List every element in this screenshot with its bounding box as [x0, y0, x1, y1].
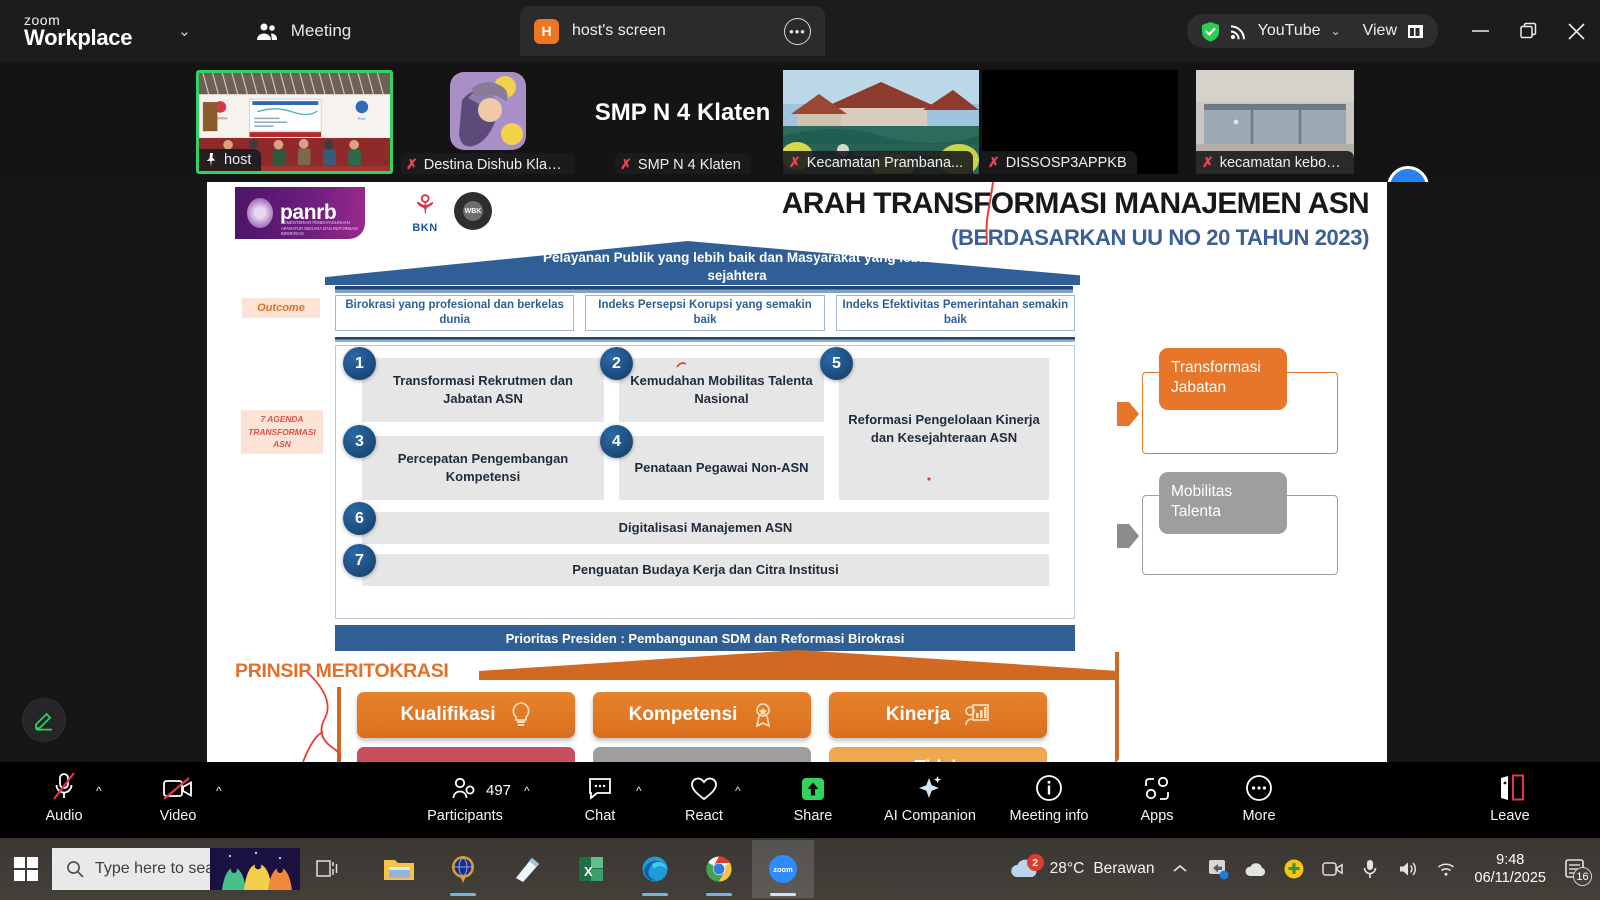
meritokrasi-chip-row: Kualifikasi Kompetensi Kinerja [357, 692, 1047, 738]
garuda-emblem-icon [247, 198, 273, 228]
participant-name-bar: host [199, 149, 261, 171]
task-view-icon [316, 859, 338, 879]
slide-title-main: ARAH TRANSFORMASI MANAJEMEN ASN [782, 187, 1369, 221]
weather-temp: 28°C [1050, 860, 1085, 878]
agenda-item-5: Reformasi Pengelolaan Kinerja dan Keseja… [839, 358, 1049, 500]
toolbar-ai-companion-button[interactable]: AI Companion [868, 770, 992, 832]
title-bar-right: YouTube ⌄ View [1187, 0, 1600, 62]
agenda-number-1: 1 [343, 347, 376, 380]
participant-name-bar: ✗ kecamatan kebonarum [1196, 151, 1354, 174]
toolbar-more-label: More [1242, 808, 1275, 824]
clock[interactable]: 9:48 06/11/2025 [1475, 851, 1547, 887]
merit-chip-label: Kompetensi [629, 704, 738, 726]
mic-off-icon: ✗ [1202, 154, 1214, 171]
wbk-seal-icon: WBK [454, 192, 492, 230]
people-icon [255, 22, 279, 41]
pin-icon [205, 153, 218, 167]
toolbar-participants-button[interactable]: Participants [436, 770, 494, 832]
meritokrasi-right-pillar [1115, 652, 1119, 762]
app-running-indicator [770, 893, 796, 896]
outcome-box: Indeks Persepsi Korupsi yang semakin bai… [585, 295, 824, 331]
participant-thumbnail-smpn4[interactable]: SMP N 4 Klaten ✗ SMP N 4 Klaten [585, 70, 780, 174]
outcome-box: Indeks Efektivitas Pemerintahan semakin … [836, 295, 1075, 331]
shared-screen-tab[interactable]: H host's screen ••• [520, 6, 825, 56]
participant-thumbnail-dissos[interactable]: ✗ DISSOSP3APPKB [982, 70, 1178, 174]
merit-chip-kompetensi: Kompetensi [593, 692, 811, 738]
medal-icon [751, 702, 775, 728]
outcome-box: Birokrasi yang profesional dan berkelas … [335, 295, 574, 331]
taskbar-app-notepad[interactable] [496, 840, 558, 898]
toolbar-chat-label: Chat [585, 808, 616, 824]
bkn-figure-icon: ⚘ [399, 188, 451, 222]
chat-icon [587, 770, 613, 802]
info-icon [1035, 770, 1063, 802]
agenda-item-4: Penataan Pegawai Non-ASN [619, 436, 824, 500]
taskbar-app-file-explorer[interactable] [368, 840, 430, 898]
share-screen-icon [800, 770, 826, 802]
separator-bar [335, 337, 1075, 342]
meritokrasi-chip-row-2: Tidak [357, 747, 1047, 762]
agenda-number-2: 2 [600, 347, 633, 380]
participant-thumbnail-kebonarum[interactable]: ✗ kecamatan kebonarum [1196, 70, 1354, 174]
toolbar-more-button[interactable]: More [1225, 770, 1293, 832]
zoom-meeting-toolbar: Audio ^ Video ^ Participants 497 ^ [0, 762, 1600, 838]
slide-title-sub: (BERDASARKAN UU NO 20 TAHUN 2023) [782, 225, 1369, 251]
merit-chip2-c: Tidak [829, 747, 1047, 762]
video-off-icon [162, 770, 194, 802]
bkn-logo: ⚘ BKN [399, 188, 451, 234]
pencil-icon [33, 709, 55, 731]
agenda-number-6: 6 [343, 502, 376, 535]
chrome-icon [704, 854, 734, 884]
zoom-title-bar: zoom Workplace ⌄ Meeting H host's screen… [0, 0, 1600, 62]
workplace-dropdown-icon[interactable]: ⌄ [178, 22, 191, 40]
merit-chip-kinerja: Kinerja [829, 692, 1047, 738]
meritokrasi-title: PRINSIP MERITOKRASI [235, 660, 449, 683]
taskbar-app-chrome[interactable] [688, 840, 750, 898]
toolbar-apps-label: Apps [1140, 808, 1173, 824]
taskbar-app-list: X zoom [368, 840, 814, 898]
panrb-logo: panrb KEMENTERIAN PENDAYAGUNAAN APARATUR… [235, 187, 365, 239]
mic-off-icon: ✗ [406, 156, 418, 173]
notification-center-button[interactable]: 16 [1558, 852, 1592, 886]
volume-icon[interactable] [1395, 856, 1421, 882]
toolbar-react-label: React [685, 808, 723, 824]
tray-expand-chevron[interactable] [1167, 856, 1193, 882]
app-running-indicator [642, 893, 668, 896]
participant-name: Kecamatan Prambana... [807, 155, 963, 171]
participant-filmstrip: ADINKRA Dinas host [0, 62, 1600, 182]
toolbar-share-button[interactable]: Share [784, 770, 842, 832]
shield-check-icon [1201, 21, 1220, 42]
roof-base-bar [335, 286, 1073, 293]
toolbar-ai-companion-label: AI Companion [884, 808, 976, 824]
svg-text:zoom: zoom [773, 865, 793, 874]
presentation-slide[interactable]: panrb KEMENTERIAN PENDAYAGUNAAN APARATUR… [207, 182, 1387, 762]
notepad-icon [512, 854, 542, 884]
merit-chip2-a [357, 747, 575, 762]
app-running-indicator [450, 893, 476, 896]
taskbar-app-zoom[interactable]: zoom [752, 840, 814, 898]
agenda-item-7: Penguatan Budaya Kerja dan Citra Institu… [362, 554, 1049, 586]
agenda-number-3: 3 [343, 425, 376, 458]
mic-icon[interactable] [1357, 856, 1383, 882]
excel-icon: X [576, 854, 606, 884]
screen-share-icon[interactable] [1205, 856, 1231, 882]
task-view-button[interactable] [300, 859, 354, 879]
bkn-logo-text: BKN [399, 222, 451, 234]
meeting-tab-label: Meeting [291, 21, 351, 41]
video-options-chevron[interactable]: ^ [216, 784, 222, 798]
close-button[interactable] [1552, 0, 1600, 62]
toolbar-share-label: Share [794, 808, 833, 824]
zoom-icon: zoom [767, 853, 799, 885]
participants-options-chevron[interactable]: ^ [524, 784, 530, 798]
taskbar-app-browser-legacy[interactable] [432, 840, 494, 898]
roof-text: Pelayanan Publik yang lebih baik dan Mas… [527, 249, 947, 285]
president-priority-bar: Prioritas Presiden : Pembangunan SDM dan… [335, 625, 1075, 651]
onedrive-icon[interactable] [1243, 856, 1269, 882]
heart-icon [690, 770, 718, 802]
slide-title: ARAH TRANSFORMASI MANAJEMEN ASN (BERDASA… [782, 187, 1369, 251]
shared-screen-title: host's screen [572, 22, 771, 40]
more-options-icon[interactable]: ••• [784, 18, 811, 45]
svg-text:Dinas: Dinas [358, 117, 366, 121]
participant-name: DISSOSP3APPKB [1006, 155, 1127, 171]
security-icon[interactable] [1281, 856, 1307, 882]
more-icon [1245, 770, 1273, 802]
agenda-tag-line3: ASN [273, 438, 291, 451]
react-options-chevron[interactable]: ^ [735, 784, 741, 798]
participant-name-bar: ✗ Kecamatan Prambana... [783, 151, 973, 174]
meeting-tab[interactable]: Meeting [255, 21, 351, 41]
agenda-tag: 7 AGENDA TRANSFORMASI ASN [241, 410, 323, 454]
mic-off-icon [52, 770, 76, 802]
toolbar-apps-button[interactable]: Apps [1124, 770, 1190, 832]
clock-time: 9:48 [1475, 851, 1547, 869]
folder-icon [382, 854, 416, 884]
shared-screen-stage: panrb KEMENTERIAN PENDAYAGUNAAN APARATUR… [0, 182, 1600, 762]
participant-thumbnail-destina[interactable]: ✗ Destina Dishub Klaten [400, 70, 575, 174]
apps-icon [1143, 770, 1171, 802]
agenda-frame: Transformasi Rekrutmen dan Jabatan ASN 1… [335, 345, 1075, 619]
minimize-button[interactable] [1456, 0, 1504, 62]
meritokrasi-roof [479, 650, 1119, 680]
side-chip-mobilitas-talenta: Mobilitas Talenta [1159, 472, 1287, 534]
globe-icon [447, 854, 479, 884]
host-avatar-badge: H [534, 19, 559, 44]
outcome-tag: Outcome [242, 298, 320, 318]
broadcast-icon [1230, 23, 1248, 40]
layout-grid-icon[interactable] [1407, 23, 1424, 40]
participant-name: SMP N 4 Klaten [638, 157, 741, 173]
participant-thumbnail-host[interactable]: ADINKRA Dinas host [196, 70, 393, 174]
windows-taskbar: Type here to search [0, 838, 1600, 900]
toolbar-leave-button[interactable]: Leave [1479, 770, 1541, 832]
toolbar-react-button[interactable]: React [675, 770, 733, 832]
zoom-logo-bottom: Workplace [24, 27, 132, 49]
panrb-logo-subtext: KEMENTERIAN PENDAYAGUNAAN APARATUR NEGAR… [281, 220, 359, 237]
toolbar-chat-button[interactable]: Chat [572, 770, 628, 832]
participant-name: host [224, 152, 251, 168]
agenda-item-1: Transformasi Rekrutmen dan Jabatan ASN [362, 358, 604, 422]
toolbar-meeting-info-button[interactable]: Meeting info [993, 770, 1105, 832]
merit-chip2-b [593, 747, 811, 762]
annotate-button[interactable] [22, 698, 66, 742]
chart-icon [964, 702, 990, 728]
toolbar-video-label: Video [160, 808, 197, 824]
merit-chip-kualifikasi: Kualifikasi [357, 692, 575, 738]
weather-condition: Berawan [1093, 860, 1154, 878]
audio-options-chevron[interactable]: ^ [96, 784, 102, 798]
mic-off-icon: ✗ [789, 154, 801, 171]
participant-name-bar: ✗ DISSOSP3APPKB [982, 151, 1137, 174]
search-input[interactable]: Type here to search [52, 848, 300, 890]
weather-badge: 2 [1027, 854, 1044, 871]
merit-chip-label: Kinerja [886, 704, 950, 726]
agenda-item-3: Percepatan Pengembangan Kompetensi [362, 436, 604, 500]
weather-widget[interactable]: 2 28°C Berawan [1009, 856, 1155, 882]
clock-date: 06/11/2025 [1475, 869, 1547, 887]
lightbulb-icon [510, 702, 532, 728]
participant-thumbnail-prambanan[interactable]: PEMERINTAH KABUPATEN KLATEN KANTOR CAMAT… [783, 70, 979, 174]
wifi-icon[interactable] [1433, 856, 1459, 882]
toolbar-audio-button[interactable]: Audio [36, 770, 92, 832]
arrow-marker-orange [1117, 400, 1141, 428]
zoom-logo: zoom Workplace [24, 13, 132, 50]
stream-dropdown-icon[interactable]: ⌄ [1331, 24, 1341, 38]
merit-chip-label: Kualifikasi [400, 704, 495, 726]
agenda-number-4: 4 [600, 425, 633, 458]
stream-status-pill[interactable]: YouTube ⌄ View [1187, 14, 1438, 48]
toolbar-video-button[interactable]: Video [150, 770, 206, 832]
leave-icon [1495, 770, 1525, 802]
search-icon [66, 860, 84, 878]
participants-icon [451, 770, 479, 802]
participant-name: kecamatan kebonarum [1220, 155, 1344, 171]
stream-service-label: YouTube [1258, 22, 1321, 40]
app-running-indicator [706, 893, 732, 896]
system-tray: 2 28°C Berawan [1009, 838, 1600, 900]
windows-start-icon [14, 857, 38, 881]
start-button[interactable] [0, 857, 52, 881]
participant-name-bar: ✗ Destina Dishub Klaten [400, 153, 575, 174]
taskbar-app-excel[interactable]: X [560, 840, 622, 898]
notification-count: 16 [1573, 867, 1592, 886]
agenda-item-6: Digitalisasi Manajemen ASN [362, 512, 1049, 544]
side-chip-transformasi-jabatan: Transformasi Jabatan [1159, 348, 1287, 410]
search-illustration-icon [210, 848, 300, 890]
sparkle-icon [916, 770, 944, 802]
camera-icon[interactable] [1319, 856, 1345, 882]
edge-icon [640, 854, 670, 884]
agenda-number-7: 7 [343, 544, 376, 577]
taskbar-app-edge[interactable] [624, 840, 686, 898]
maximize-button[interactable] [1504, 0, 1552, 62]
toolbar-meeting-info-label: Meeting info [1010, 808, 1089, 824]
agenda-tag-line1: 7 AGENDA [261, 413, 304, 426]
participant-name: Destina Dishub Klaten [424, 157, 565, 173]
mic-off-icon: ✗ [988, 154, 1000, 171]
participant-name-bar: ✗ SMP N 4 Klaten [614, 153, 751, 174]
agenda-number-5: 5 [820, 347, 853, 380]
agenda-item-2: Kemudahan Mobilitas Talenta Nasional [619, 358, 824, 422]
toolbar-participants-label: Participants [427, 808, 503, 824]
participants-count: 497 [486, 782, 511, 799]
chat-options-chevron[interactable]: ^ [636, 784, 642, 798]
mic-off-icon: ✗ [620, 156, 632, 173]
arrow-marker-grey [1117, 522, 1141, 550]
toolbar-leave-label: Leave [1490, 808, 1530, 824]
meritokrasi-left-pillar [337, 687, 341, 762]
outcome-row: Birokrasi yang profesional dan berkelas … [335, 295, 1075, 331]
svg-text:X: X [584, 864, 593, 879]
toolbar-audio-label: Audio [45, 808, 82, 824]
agenda-tag-line2: TRANSFORMASI [248, 426, 315, 439]
view-label[interactable]: View [1363, 22, 1397, 40]
